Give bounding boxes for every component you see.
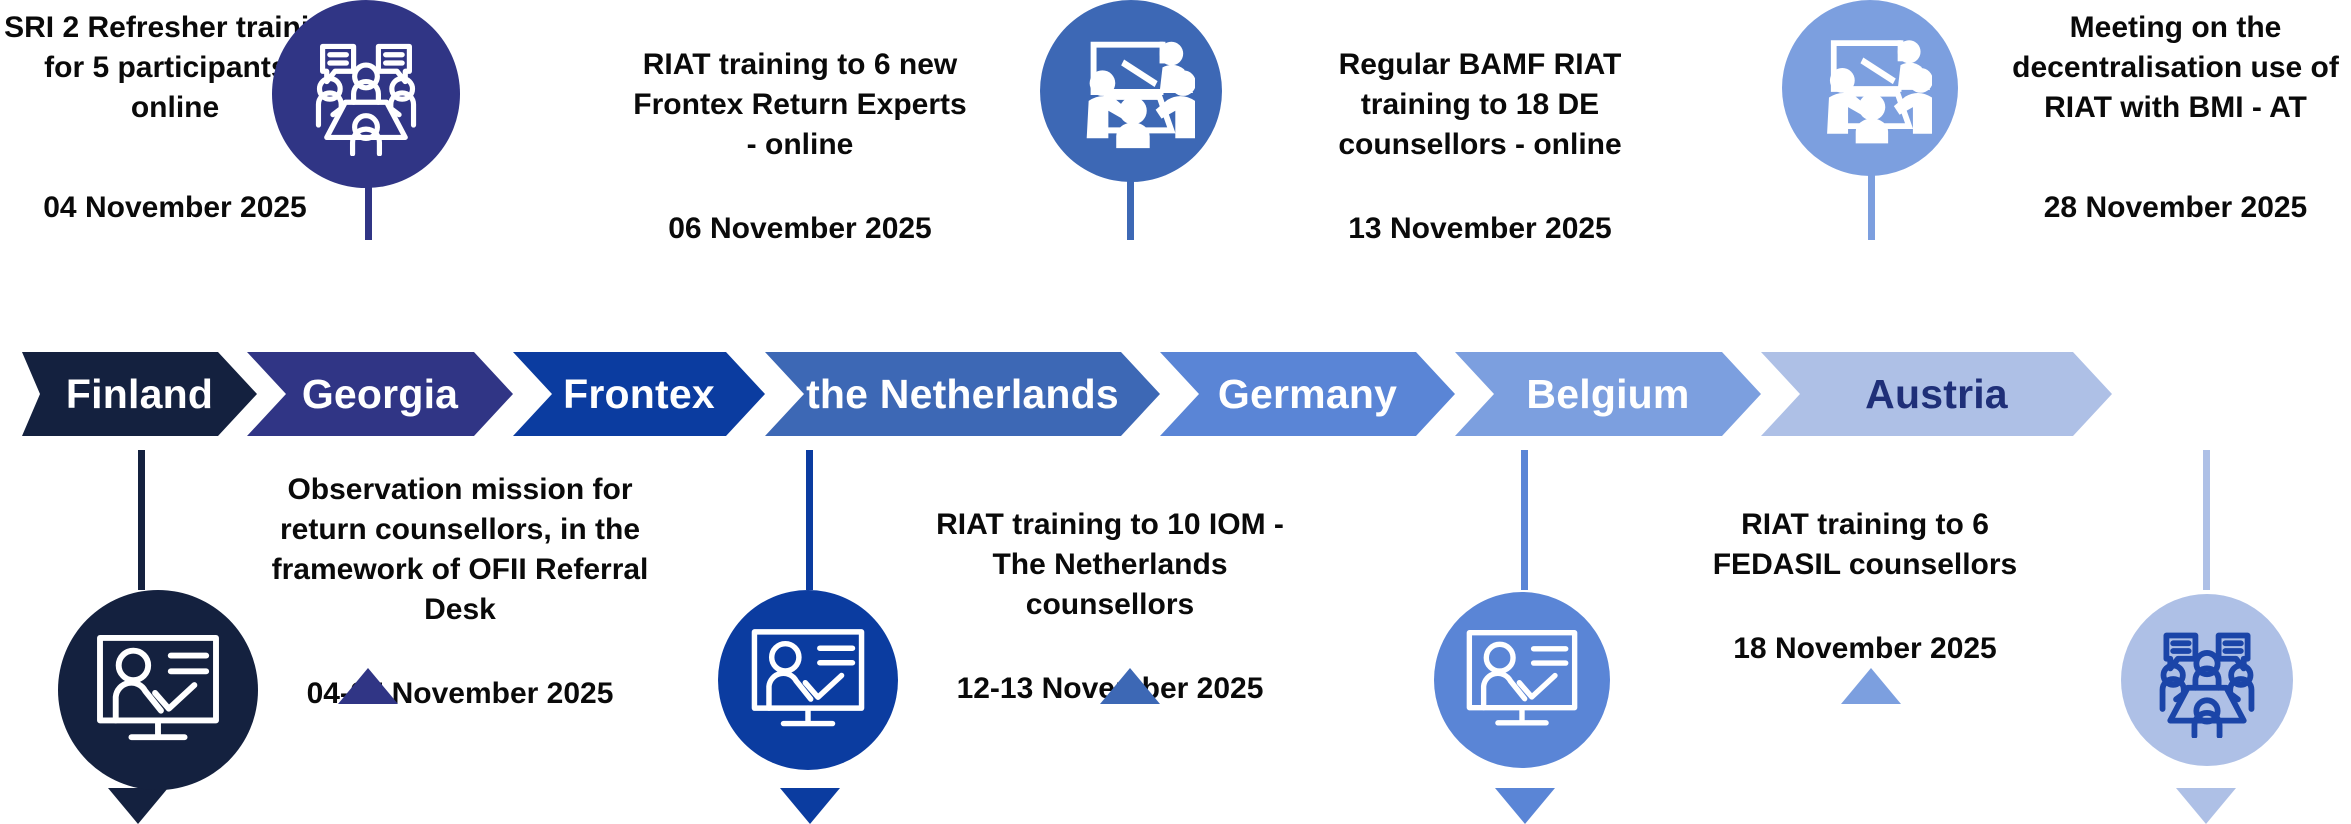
icon-bubble-netherlands-top[interactable] (1040, 0, 1222, 182)
event-netherlands-top: Regular BAMF RIAT training to 18 DE coun… (1300, 45, 1660, 247)
notch-germany (1495, 788, 1555, 824)
meeting-icon (2149, 622, 2265, 738)
chevron-belgium-label: Belgium (1526, 374, 1689, 415)
chevron-germany-label: Germany (1218, 374, 1397, 415)
chevron-austria-label: Austria (1865, 374, 2008, 415)
notch-frontex (780, 788, 840, 824)
event-frontex-top-date: 06 November 2025 (630, 211, 970, 247)
chevron-austria[interactable]: Austria (1761, 352, 2112, 436)
chevron-georgia-label: Georgia (302, 374, 458, 415)
icon-bubble-germany-bottom[interactable] (1434, 592, 1610, 768)
event-belgium-bottom: RIAT training to 6 FEDASIL counsellors 1… (1690, 505, 2040, 667)
chevron-germany[interactable]: Germany (1160, 352, 1455, 436)
event-belgium-top-title: Meeting on the decentralisation use of R… (2000, 8, 2351, 128)
meeting-icon (304, 32, 428, 156)
chevron-frontex-label: Frontex (563, 374, 715, 415)
connector-germany-bottom (1521, 450, 1528, 590)
icon-bubble-finland-bottom[interactable] (58, 590, 258, 790)
icon-bubble-georgia-bottom[interactable] (718, 590, 898, 770)
timeline-infographic: Finland Georgia Frontex (0, 0, 2351, 800)
notch-netherlands (1100, 668, 1160, 704)
classroom-icon (1067, 31, 1195, 151)
notch-austria (2176, 788, 2236, 824)
event-netherlands-top-date: 13 November 2025 (1300, 211, 1660, 247)
chevron-netherlands-label: the Netherlands (806, 374, 1119, 415)
chevron-frontex[interactable]: Frontex (513, 352, 765, 436)
online-training-icon (94, 632, 222, 748)
chevron-belgium[interactable]: Belgium (1455, 352, 1761, 436)
chevron-netherlands[interactable]: the Netherlands (765, 352, 1160, 436)
event-georgia-bottom: Observation mission for return counsello… (250, 470, 670, 712)
connector-frontex-bottom (806, 450, 813, 590)
notch-finland (108, 788, 168, 824)
chevron-georgia[interactable]: Georgia (247, 352, 513, 436)
event-georgia-bottom-title: Observation mission for return counsello… (250, 470, 670, 630)
notch-belgium (1841, 668, 1901, 704)
event-frontex-top-title: RIAT training to 6 new Frontex Return Ex… (630, 45, 970, 165)
connector-austria-bottom (2203, 450, 2210, 590)
connector-finland-bottom (138, 450, 145, 590)
icon-bubble-austria-bottom[interactable] (2121, 594, 2293, 766)
notch-georgia (338, 668, 398, 704)
event-netherlands-top-title: Regular BAMF RIAT training to 18 DE coun… (1300, 45, 1660, 165)
classroom-icon (1808, 30, 1932, 146)
online-training-icon (1464, 627, 1580, 733)
online-training-icon (749, 626, 867, 734)
event-belgium-bottom-title: RIAT training to 6 FEDASIL counsellors (1690, 505, 2040, 585)
event-georgia-bottom-date: 04-07 November 2025 (250, 676, 670, 712)
event-belgium-top: Meeting on the decentralisation use of R… (2000, 8, 2351, 226)
event-belgium-bottom-date: 18 November 2025 (1690, 631, 2040, 667)
event-frontex-top: RIAT training to 6 new Frontex Return Ex… (630, 45, 970, 247)
event-frontex-bottom-title: RIAT training to 10 IOM - The Netherland… (910, 505, 1310, 625)
country-chevron-band: Finland Georgia Frontex (0, 352, 2351, 436)
icon-bubble-georgia-top[interactable] (272, 0, 460, 188)
chevron-finland[interactable]: Finland (22, 352, 257, 436)
event-finland-top-date: 04 November 2025 (0, 190, 350, 226)
chevron-finland-label: Finland (66, 374, 213, 415)
event-belgium-top-date: 28 November 2025 (2000, 190, 2351, 226)
icon-bubble-belgium-top[interactable] (1782, 0, 1958, 176)
